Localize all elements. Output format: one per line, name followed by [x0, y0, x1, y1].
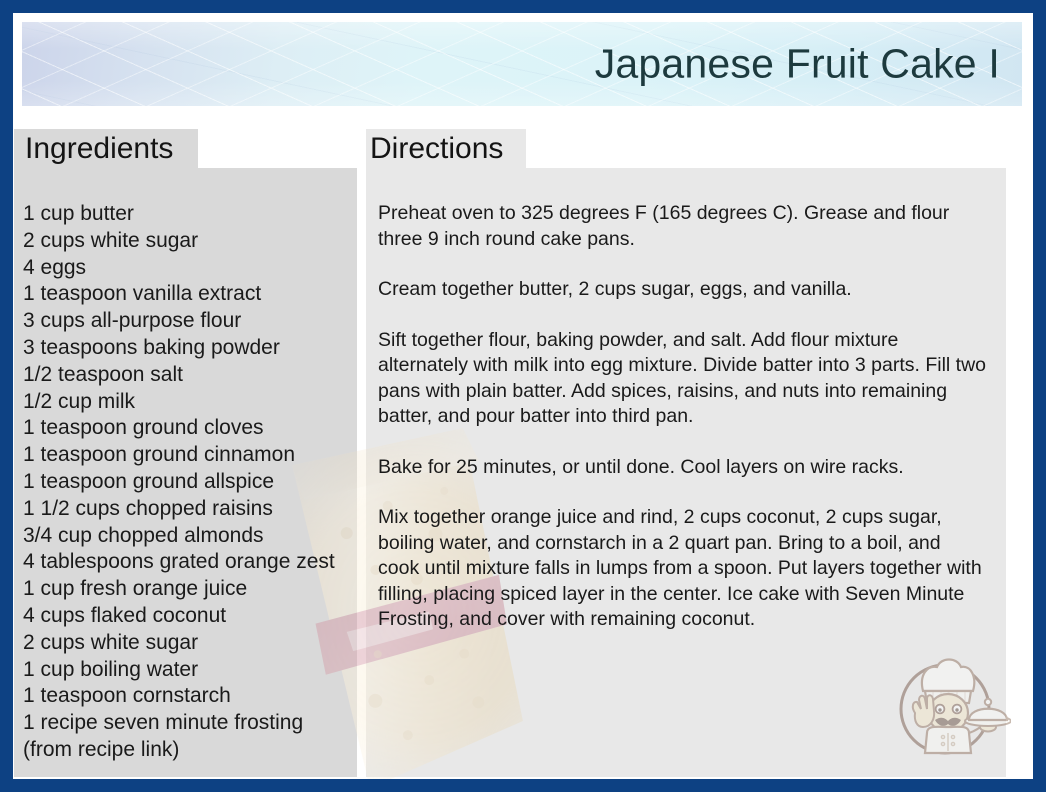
ingredient-item: 3 cups all-purpose flour	[23, 308, 347, 335]
ingredient-item: 2 cups white sugar	[23, 228, 347, 255]
header-banner: Japanese Fruit Cake I	[22, 22, 1022, 106]
tab-ingredients-label: Ingredients	[25, 132, 173, 166]
ingredient-item: 1 teaspoon cornstarch	[23, 683, 347, 710]
ingredient-item: 3 teaspoons baking powder	[23, 335, 347, 362]
direction-step: Mix together orange juice and rind, 2 cu…	[378, 505, 986, 633]
direction-step-list: Preheat oven to 325 degrees F (165 degre…	[366, 168, 1006, 633]
page-title: Japanese Fruit Cake I	[595, 41, 1000, 88]
ingredients-panel: 1 cup butter2 cups white sugar4 eggs1 te…	[14, 168, 357, 777]
ingredient-item: 1 teaspoon ground cloves	[23, 415, 347, 442]
ingredient-item: (from recipe link)	[23, 737, 347, 764]
directions-panel: Preheat oven to 325 degrees F (165 degre…	[366, 168, 1006, 777]
ingredient-item: 1 1/2 cups chopped raisins	[23, 496, 347, 523]
ingredient-item: 1/2 cup milk	[23, 389, 347, 416]
direction-step: Bake for 25 minutes, or until done. Cool…	[378, 455, 986, 481]
ingredient-item: 1 cup fresh orange juice	[23, 576, 347, 603]
ingredient-item: 3/4 cup chopped almonds	[23, 523, 347, 550]
ingredient-item: 1 cup butter	[23, 201, 347, 228]
ingredient-item: 2 cups white sugar	[23, 630, 347, 657]
ingredient-list: 1 cup butter2 cups white sugar4 eggs1 te…	[14, 168, 357, 764]
ingredient-item: 1 teaspoon ground cinnamon	[23, 442, 347, 469]
ingredient-item: 1 teaspoon ground allspice	[23, 469, 347, 496]
ingredient-item: 4 tablespoons grated orange zest	[23, 549, 347, 576]
ingredient-item: 1 teaspoon vanilla extract	[23, 281, 347, 308]
ingredient-item: 1 recipe seven minute frosting	[23, 710, 347, 737]
ingredient-item: 4 eggs	[23, 255, 347, 282]
direction-step: Sift together flour, baking powder, and …	[378, 328, 986, 430]
direction-step: Cream together butter, 2 cups sugar, egg…	[378, 277, 986, 303]
ingredient-item: 1 cup boiling water	[23, 657, 347, 684]
direction-step: Preheat oven to 325 degrees F (165 degre…	[378, 201, 986, 252]
recipe-card: Japanese Fruit Cake I Ingredients 1 cup …	[0, 0, 1046, 792]
tab-directions-label: Directions	[370, 132, 503, 166]
ingredient-item: 1/2 teaspoon salt	[23, 362, 347, 389]
ingredient-item: 4 cups flaked coconut	[23, 603, 347, 630]
